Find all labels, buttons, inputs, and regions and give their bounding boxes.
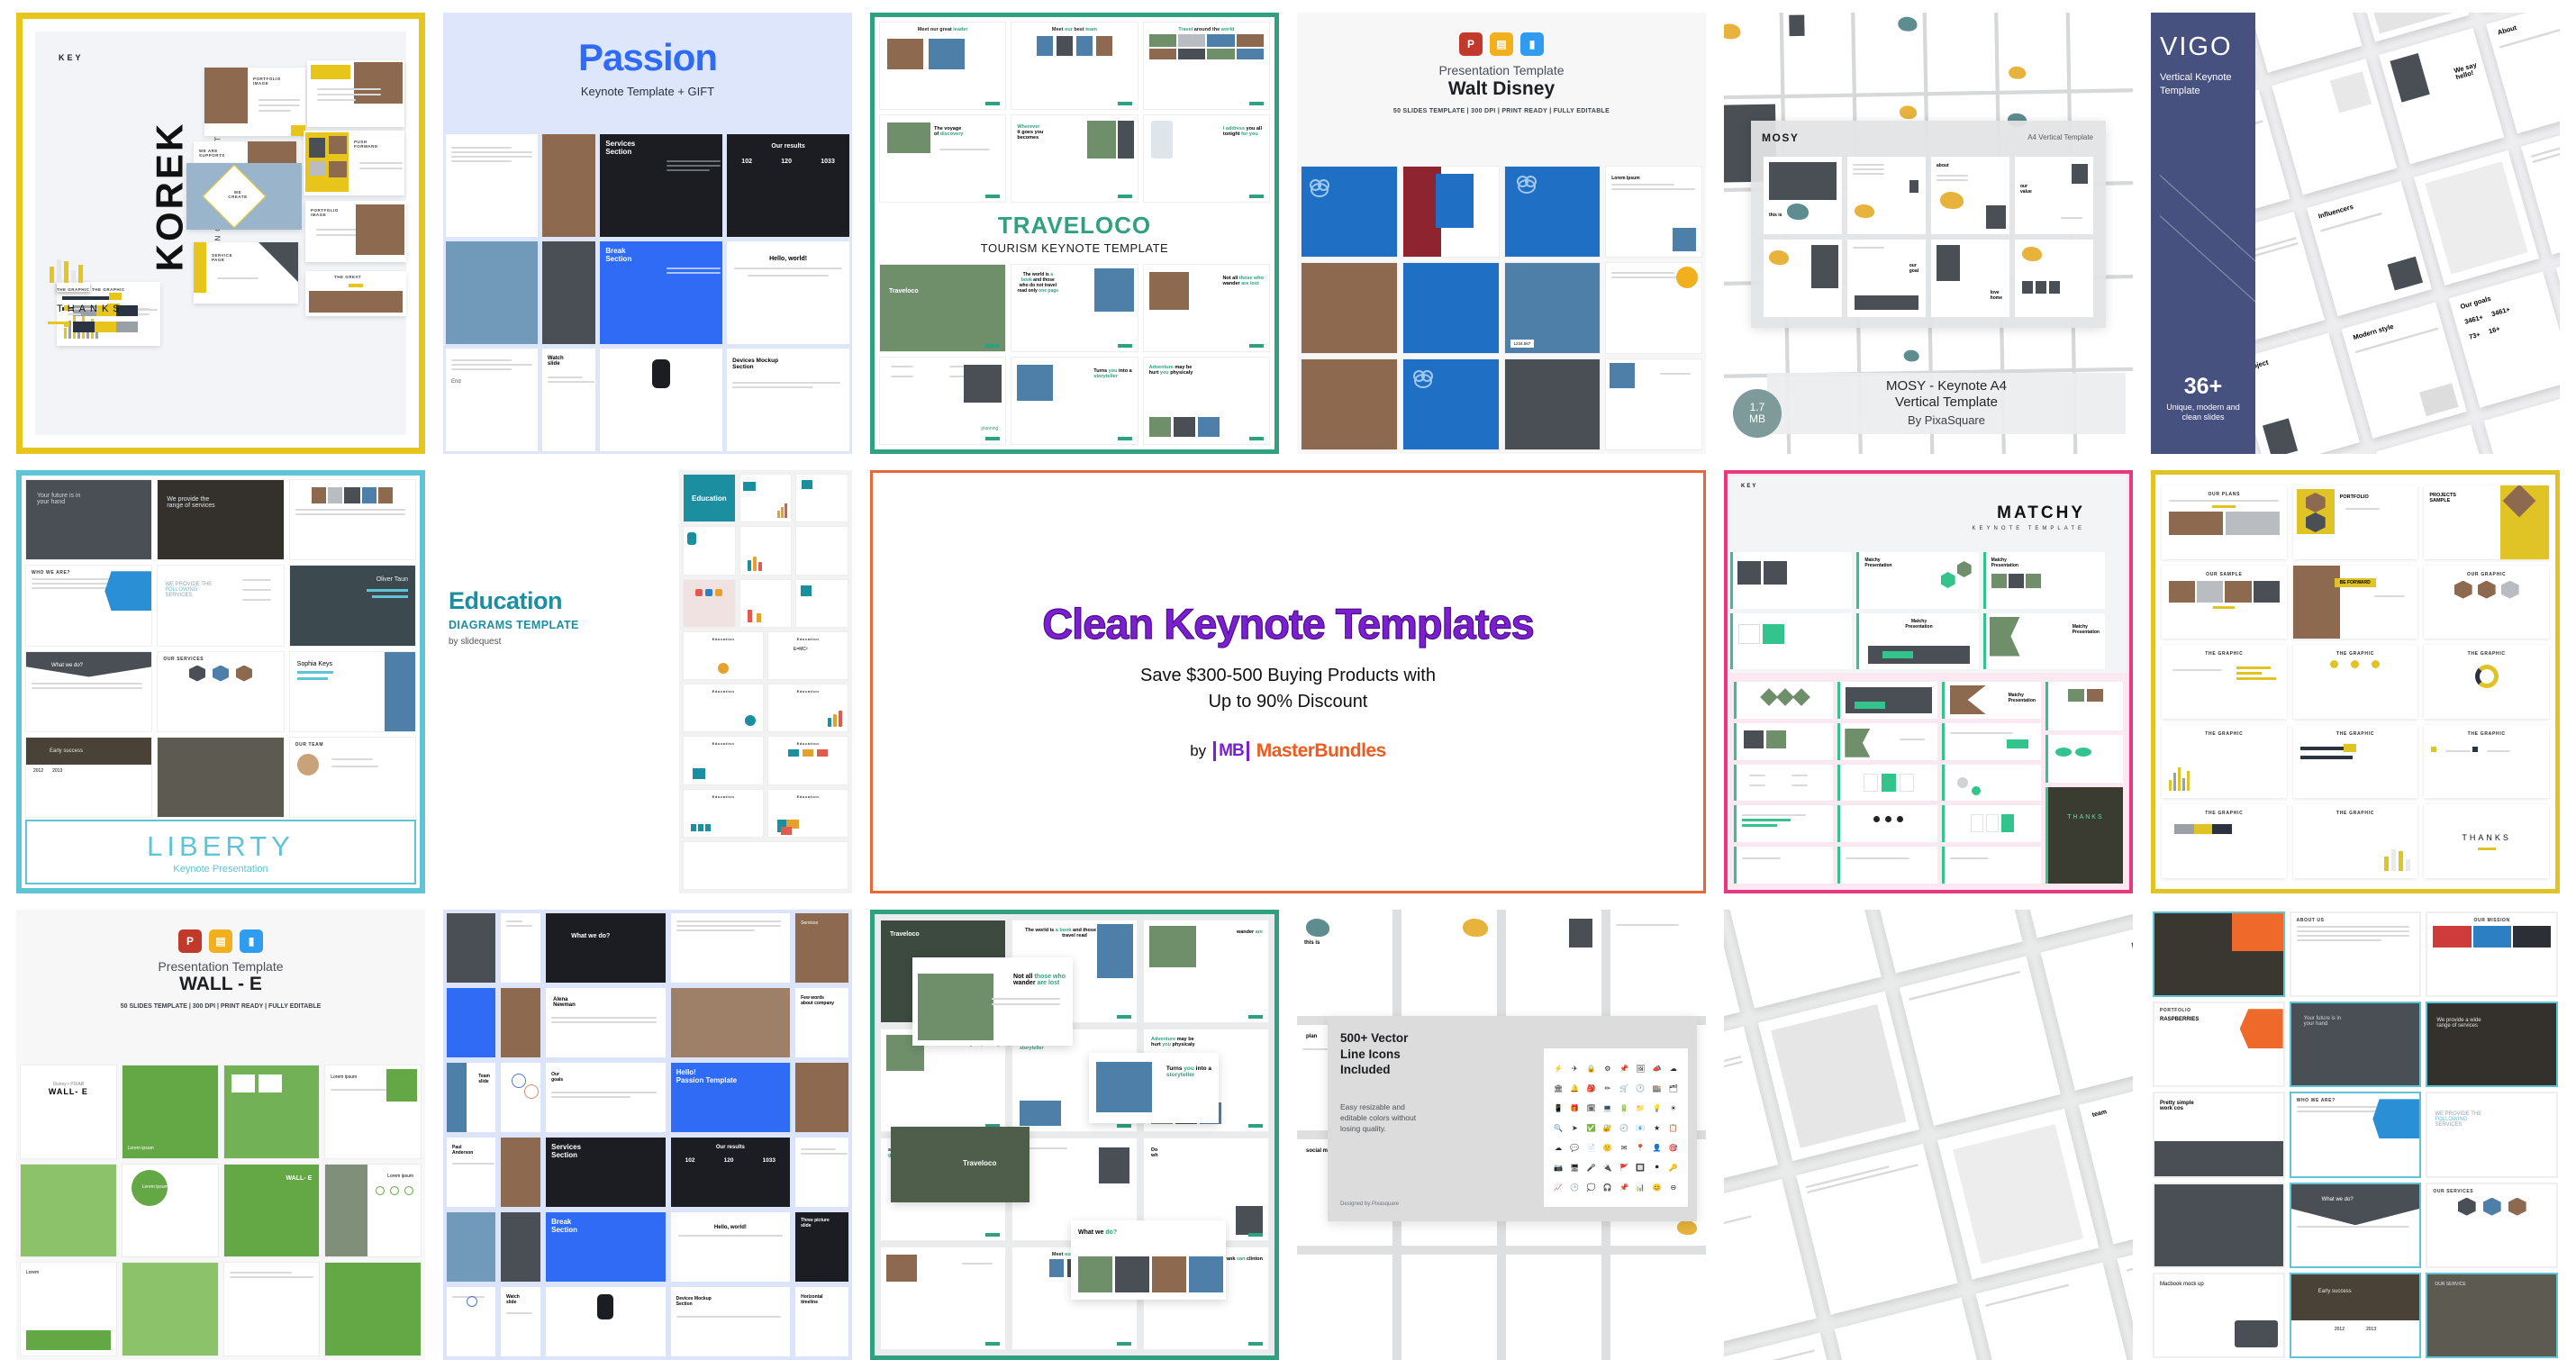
slide-thumb: Hello, world! — [727, 241, 849, 344]
slide-thumb: Education — [767, 789, 848, 838]
icon-sheet: ⚡✈🔒⚙📌🖼📣☁🏛🔔🎒✏🛒🕐🏬🗂📱🎁🗓💻🔋📁💡☀🔍➤✅🔐🕘📧★📋☁💬📄🙂✉📍👤🎯… — [1544, 1048, 1688, 1207]
traveloco-slides: Meet our great leader Meet our best team… — [875, 17, 1274, 449]
slide-thumb — [289, 479, 416, 560]
slide-thumb: Early success20122013 — [2290, 1273, 2422, 1358]
vigo-title: VIGO — [2160, 32, 2246, 62]
slide-thumb — [1301, 358, 1398, 450]
icons-body-line2: editable colors without — [1340, 1113, 1416, 1122]
line-icon-2: 🔒 — [1584, 1059, 1599, 1077]
line-icon-25: ➤ — [1567, 1119, 1582, 1137]
slide-thumb: Meet our great leader — [879, 22, 1006, 110]
slide-thumb — [2045, 682, 2123, 730]
tile-mosy[interactable]: MOSY A4 Vertical Template this is about … — [1724, 13, 2133, 454]
mosy-page-grid: this is about ourvalue ourgoal lovehome — [1764, 157, 2093, 317]
mosy-badge-unit: MB — [1749, 413, 1765, 425]
line-icon-23: ☀ — [1666, 1099, 1681, 1117]
icons-title-line2: Line Icons — [1340, 1047, 1401, 1061]
tile-traveloco[interactable]: Meet our great leader Meet our best team… — [870, 13, 1279, 454]
slide-thumb: We provide a widerange of services — [2426, 1002, 2558, 1087]
slide-thumb — [223, 1065, 321, 1159]
tile-walt-disney[interactable]: P ▤ ▮ Presentation Template Walt Disney … — [1297, 13, 1706, 454]
line-icon-26: ✅ — [1584, 1119, 1599, 1137]
slide-thumb: Lorem ipsum — [122, 1164, 219, 1258]
line-icon-16: 📱 — [1551, 1099, 1565, 1117]
slide-thumb — [1402, 262, 1500, 354]
slide-thumb: The voyageof discovery — [879, 114, 1006, 203]
slide-thumb: Create your planning — [879, 357, 1006, 445]
slide-thumb: Your future is inyour hand — [25, 479, 152, 560]
line-icon-37: 📍 — [1633, 1138, 1647, 1156]
icons-overlay-card: 500+ Vector Line Icons Included Easy res… — [1328, 1016, 1697, 1221]
slide-thumb: Traveloco — [879, 264, 1006, 352]
slide-thumb: We provide therange of services — [157, 479, 284, 560]
slide-thumb: Lorem Ipsum — [1605, 166, 1702, 258]
tile-passion-grid[interactable]: What we do? Services AlenaNewman Few wor… — [443, 910, 852, 1360]
slide-thumb: Hello, world! — [671, 1212, 790, 1282]
masterbundles-wordmark: MasterBundles — [1256, 740, 1386, 762]
slide-thumb — [501, 988, 540, 1057]
slide-thumb — [1605, 358, 1702, 450]
line-icon-44: 🚩 — [1617, 1158, 1631, 1176]
slide-thumb: MatchyPresentation — [1983, 613, 2105, 670]
slide-thumb: OUR SERVICES — [2426, 1183, 2558, 1268]
line-icon-18: 🗓 — [1584, 1099, 1599, 1117]
disney-slides: Lorem Ipsum 1234.567 — [1297, 166, 1706, 454]
slide-thumb: Lorem — [20, 1262, 117, 1356]
slide-thumb — [122, 1262, 219, 1356]
slide-thumb — [1402, 166, 1500, 258]
slide-thumb — [1734, 765, 1833, 802]
powerpoint-icon: P — [178, 929, 202, 953]
slide-thumb: Turns you into astoryteller — [1011, 357, 1138, 445]
slide-thumb: THE GRAPHIC — [2162, 645, 2287, 719]
slide-thumb: Services — [795, 913, 848, 983]
line-icon-0: ⚡ — [1551, 1059, 1565, 1077]
slide-thumb: ServicesSection — [600, 134, 722, 237]
slide-thumb: Macbook mock up — [2153, 1273, 2285, 1358]
slide-thumb: BreakSection — [600, 241, 722, 344]
line-icon-49: 🕑 — [1567, 1178, 1582, 1196]
slide-thumb — [501, 913, 540, 983]
education-title-block: Education DIAGRAMS TEMPLATE by slideques… — [449, 587, 606, 647]
line-icon-33: 💬 — [1567, 1138, 1582, 1156]
icons-title-line1: 500+ Vector — [1340, 1031, 1408, 1045]
line-icon-10: 🎒 — [1584, 1079, 1599, 1097]
liberty-title-block: LIBERTY Keynote Presentation — [25, 820, 416, 884]
tile-teal-grid[interactable]: ABOUT US OUR MISSION PORTFOLIORASPBERRIE… — [2151, 910, 2560, 1360]
passion-title: Passion — [443, 13, 852, 79]
slide-thumb — [1942, 765, 2041, 802]
slide-thumb — [1942, 805, 2041, 842]
teal-grid-slides: ABOUT US OUR MISSION PORTFOLIORASPBERRIE… — [2153, 911, 2558, 1358]
slide-thumb — [447, 1287, 495, 1356]
slide-thumb — [501, 1063, 540, 1132]
hero-promo-card[interactable]: Clean Keynote Templates Save $300-500 Bu… — [870, 470, 1706, 893]
line-icon-54: 😊 — [1650, 1178, 1664, 1196]
mosy-title-block: MOSY - Keynote A4Vertical Template By Pi… — [1767, 373, 2126, 435]
slide-thumb: PROJECTSSAMPLE — [2424, 485, 2549, 559]
slide-thumb: Our results1021201033 — [671, 1138, 790, 1207]
slide-thumb — [1301, 166, 1398, 258]
slide-thumb: Few wordsabout company — [795, 988, 848, 1057]
line-icon-40: 📷 — [1551, 1158, 1565, 1176]
slide-thumb: Disney • PIXARWALL- E — [20, 1065, 117, 1159]
slide-thumb — [739, 526, 793, 575]
line-icon-51: 🎧 — [1601, 1178, 1615, 1196]
slide-thumb: OUR SERVICE — [2426, 1273, 2558, 1358]
slide-thumb: The world is a book and those who do not… — [1011, 264, 1138, 352]
slide-thumb: Not all those whowander are lost — [1143, 264, 1270, 352]
slide-thumb: What we do? — [2290, 1183, 2422, 1268]
slide-thumb — [671, 988, 790, 1057]
slide-thumb — [1734, 847, 1833, 884]
line-icon-9: 🔔 — [1567, 1079, 1582, 1097]
passion-subtitle: Keynote Template + GIFT — [443, 85, 852, 98]
liberty-slides: Your future is inyour hand We provide th… — [25, 479, 416, 818]
slide-thumb — [1942, 723, 2041, 760]
slide-thumb — [1402, 358, 1500, 450]
keynote-icon: ▮ — [1520, 32, 1544, 56]
promo-subtitle: Save $300-500 Buying Products with Up to… — [1140, 663, 1436, 715]
education-byline: by slidequest — [449, 637, 606, 647]
floating-slide-card: Not all those whowander are lost — [912, 957, 1073, 1046]
slide-thumb: Education — [767, 684, 848, 732]
mosy-overlay-card: MOSY A4 Vertical Template this is about … — [1751, 121, 2106, 328]
icons-body-line1: Easy resizable and — [1340, 1102, 1405, 1111]
line-icon-13: 🕐 — [1633, 1079, 1647, 1097]
line-icon-48: 📈 — [1551, 1178, 1565, 1196]
tile-korek[interactable]: KEY KOREK KEYNOTE TEMPLATE PORTFOLIOIMAG… — [16, 13, 425, 454]
slide-thumb — [795, 526, 848, 575]
slide-thumb: OUR SAMPLE — [2162, 566, 2287, 639]
yellow-deck-slides: OUR PLANS PORTFOLIO PROJECTSSAMPLE OUR S… — [2162, 485, 2549, 878]
slide-thumb: Sophia Keys — [289, 651, 416, 732]
slide-thumb — [1730, 613, 1852, 670]
slide-thumb: Lorem ipsum — [324, 1164, 422, 1258]
slide-thumb: Lorem ipsum — [324, 1065, 422, 1159]
line-icon-28: 🕘 — [1617, 1119, 1631, 1137]
disney-title: Walt Disney — [1297, 78, 1706, 100]
slide-thumb — [2153, 911, 2285, 997]
slide-thumb: Oliver Taun — [289, 565, 416, 646]
slide-thumb — [739, 579, 793, 628]
slide-thumb — [1837, 805, 1937, 842]
disney-eyebrow: Presentation Template — [1297, 63, 1706, 77]
line-icon-53: 📊 — [1633, 1178, 1647, 1196]
line-icon-11: ✏ — [1601, 1079, 1615, 1097]
vigo-caption-line1: Unique, modern and — [2166, 403, 2240, 412]
slide-thumb — [683, 526, 736, 575]
line-icon-8: 🏛 — [1551, 1079, 1565, 1097]
line-icon-20: 🔋 — [1617, 1099, 1631, 1117]
vigo-count: 36+ — [2151, 374, 2255, 400]
slide-thumb: Education — [767, 736, 848, 784]
line-icon-4: 📌 — [1617, 1059, 1631, 1077]
walle-title: WALL - E — [16, 974, 425, 995]
line-icon-42: 🎤 — [1584, 1158, 1599, 1176]
slide-thumb: Meet our best team — [1011, 22, 1138, 110]
slide-thumb-chart2: THE GRAPHIC — [57, 282, 90, 292]
slide-thumb: THE GRAPHIC — [2293, 645, 2418, 719]
slide-thumb: OUR SERVICES — [157, 651, 284, 732]
slide-thumb: Education — [683, 474, 736, 522]
app-icon-row: P ▤ ▮ — [16, 910, 425, 953]
liberty-title: LIBERTY — [147, 830, 295, 863]
line-icon-30: ★ — [1650, 1119, 1664, 1137]
walle-specs: 50 SLIDES TEMPLATE | 300 DPI | PRINT REA… — [16, 1003, 425, 1010]
vigo-subtitle-line1: Vertical Keynote — [2160, 72, 2232, 83]
slide-thumb — [542, 134, 595, 237]
slide-thumb: End — [446, 349, 538, 451]
masterbundles-mark-icon: MB — [1213, 741, 1249, 761]
matchy-bottom-slides: MatchyPresentation THANKS — [1730, 678, 2127, 887]
slide-thumb: Early success20122013 — [25, 737, 152, 818]
line-icon-31: 📋 — [1666, 1119, 1681, 1137]
by-label: by — [1190, 742, 1206, 760]
slide-thumb — [1734, 723, 1833, 760]
slide-thumb: WE PROVIDE THEFOLLOWINGSERVICES — [157, 565, 284, 646]
slide-thumb: What we do? — [25, 651, 152, 732]
slide-thumb — [447, 988, 495, 1057]
mosy-kicker: A4 Vertical Template — [2027, 133, 2093, 141]
slide-thumb: MatchyPresentation — [1942, 682, 2041, 719]
vigo-count-block: 36+ Unique, modern and clean slides — [2151, 374, 2255, 423]
slide-thumb — [1734, 805, 1833, 842]
slide-thumb-we-create: WECREATE — [186, 163, 302, 230]
slide-thumb: PUSHFORWARD — [304, 131, 404, 195]
slide-thumb: Travel around the world — [1143, 22, 1270, 110]
line-icon-55: ⊖ — [1666, 1178, 1681, 1196]
slide-thumb: PORTFOLIORASPBERRIES — [2153, 1002, 2285, 1087]
slide-thumb: Teamslide — [447, 1063, 495, 1132]
slide-thumb — [542, 241, 595, 344]
slide-thumb — [795, 1138, 848, 1207]
education-subtitle: DIAGRAMS TEMPLATE — [449, 619, 606, 631]
matchy-header-panel: KEY MATCHY KEYNOTE TEMPLATE MatchyPresen… — [1730, 476, 2127, 673]
tile-vigo[interactable]: Trending We sayhello! About Success Infl… — [2151, 13, 2560, 454]
slide-thumb — [20, 1164, 117, 1258]
slide-thumb — [795, 474, 848, 522]
tile-passion[interactable]: Passion Keynote Template + GIFT Services… — [443, 13, 852, 454]
slide-thumb: Horizontaltimeline — [795, 1287, 848, 1356]
slide-thumb: Our results1021201033 — [727, 134, 849, 237]
line-icon-47: 🔑 — [1666, 1158, 1681, 1176]
slide-thumb: THE GRAPHIC — [2293, 725, 2418, 799]
slide-thumb — [1942, 847, 2041, 884]
slide-thumb: MatchyPresentation — [1856, 552, 1978, 609]
slide-thumb: Devices MockupSection — [671, 1287, 790, 1356]
slide-thumb: PORTFOLIOIMAGE — [305, 201, 406, 262]
slide-thumb: wander are — [1143, 920, 1269, 1023]
icons-title-line3: Included — [1340, 1063, 1391, 1076]
line-icon-34: 📄 — [1584, 1138, 1599, 1156]
google-slides-icon: ▤ — [209, 929, 232, 953]
vigo-subtitle: Vertical Keynote Template — [2160, 71, 2246, 98]
line-icon-12: 🛒 — [1617, 1079, 1631, 1097]
slide-thumb: Ourgoals — [546, 1063, 666, 1132]
passion-slides: ServicesSection Our results1021201033 Br… — [443, 131, 852, 454]
korek-graphic-row: THE GRAPHIC — [57, 282, 385, 419]
slide-thumb: PaulAnderson — [447, 1138, 495, 1207]
line-icon-32: ☁ — [1551, 1138, 1565, 1156]
mosy-author: By PixaSquare — [1771, 413, 2122, 427]
slide-thumb — [1301, 262, 1398, 354]
slide-thumb — [546, 1287, 666, 1356]
slide-thumb: THE GRAPHIC — [2293, 804, 2418, 878]
slide-thumb: OUR PLANS — [2162, 485, 2287, 559]
slide-thumb: PORTFOLIOIMAGE — [204, 68, 305, 136]
line-icon-21: 📁 — [1633, 1099, 1647, 1117]
line-icon-27: 🔐 — [1601, 1119, 1615, 1137]
line-icon-17: 🎁 — [1567, 1099, 1582, 1117]
floating-slide-card: What we do? — [1071, 1220, 1226, 1300]
slide-thumb — [446, 134, 538, 237]
slide-thumb: MatchyPresentation — [1856, 613, 1978, 670]
slide-thumb: Watchslide — [501, 1287, 540, 1356]
slide-thumb: Adventure may behurt you physicaly — [1143, 357, 1270, 445]
powerpoint-icon: P — [1459, 32, 1483, 56]
slide-thumb — [683, 841, 848, 890]
line-icon-36: ✉ — [1617, 1138, 1631, 1156]
traveloco-title-block: TRAVELOCO TOURISM KEYNOTE TEMPLATE — [879, 207, 1270, 259]
slide-thumb: What we do? — [546, 913, 666, 983]
slide-thumb: THE GRAPHIC — [2162, 725, 2287, 799]
slide-thumb — [1837, 682, 1937, 719]
tile-bw-sheets[interactable]: App services About projects team — [1724, 910, 2133, 1360]
slide-thumb: AlenaNewman — [546, 988, 666, 1057]
slide-thumb — [2153, 1183, 2285, 1268]
line-icon-5: 🖼 — [1633, 1059, 1647, 1077]
slide-thumb: OUR TEAM — [289, 737, 416, 818]
slide-thumb: Your future is inyour hand — [2290, 1002, 2422, 1087]
slide-thumb — [501, 1212, 540, 1282]
bw-slide-stack: App services About projects team — [1724, 910, 2133, 1360]
line-icon-43: 🔌 — [1601, 1158, 1615, 1176]
tile-yellow-deck[interactable]: OUR PLANS PORTFOLIO PROJECTSSAMPLE OUR S… — [2151, 470, 2560, 893]
line-icon-50: 💭 — [1584, 1178, 1599, 1196]
slide-thumb: Education — [683, 631, 764, 680]
app-icon-row: P ▤ ▮ — [1297, 13, 1706, 56]
icons-body-line3: losing quality. — [1340, 1124, 1386, 1133]
slide-thumb — [671, 913, 790, 983]
tile-wall-e[interactable]: P ▤ ▮ Presentation Template WALL - E 50 … — [16, 910, 425, 1360]
slide-thumb — [1605, 262, 1702, 354]
slide-thumb — [1504, 166, 1601, 258]
slide-thumb: EducationE=MC² — [767, 631, 848, 680]
korek-canvas: KEY KOREK KEYNOTE TEMPLATE PORTFOLIOIMAG… — [35, 32, 406, 435]
education-slides: Education Education EducationE=MC² Educa… — [679, 470, 852, 893]
slide-thumb: Hello!Passion Template — [671, 1063, 790, 1132]
traveloco-subtitle: TOURISM KEYNOTE TEMPLATE — [981, 241, 1168, 255]
slide-thumb — [307, 60, 404, 127]
slide-thumb — [1837, 847, 1937, 884]
slide-thumb: Education — [683, 684, 764, 732]
promo-title: Clean Keynote Templates — [1042, 602, 1534, 646]
slide-thumb: 1234.567 — [1504, 262, 1601, 354]
slide-thumb — [447, 913, 495, 983]
slide-thumb: OUR MISSION — [2426, 911, 2558, 997]
slide-thumb — [157, 737, 284, 818]
slide-thumb — [1730, 552, 1852, 609]
slide-thumb: Education — [683, 736, 764, 784]
icons-credit: Designed by Pixasquare — [1340, 1201, 1399, 1207]
slide-thumb — [1504, 358, 1601, 450]
slide-thumb — [223, 1262, 321, 1356]
slide-thumb: I address you alltonight for you — [1143, 114, 1270, 203]
line-icon-24: 🔍 — [1551, 1119, 1565, 1137]
walle-eyebrow: Presentation Template — [16, 959, 425, 974]
slide-thumb: BreakSection — [546, 1212, 666, 1282]
slide-thumb: ServicesSection — [546, 1138, 666, 1207]
line-icon-3: ⚙ — [1601, 1059, 1615, 1077]
slide-thumb — [795, 1063, 848, 1132]
tile-liberty[interactable]: Your future is inyour hand We provide th… — [16, 470, 425, 893]
template-collage-grid: KEY KOREK KEYNOTE TEMPLATE PORTFOLIOIMAG… — [0, 0, 2576, 1351]
passion-grid-slides: What we do? Services AlenaNewman Few wor… — [443, 910, 852, 1360]
slide-thumb: BE FORWARD — [2293, 566, 2418, 639]
mosy-title-line1: MOSY - Keynote A4 — [1886, 378, 2007, 394]
tile-traveloco-grid[interactable]: Traveloco The world is a book and those … — [870, 910, 1279, 1360]
mosy-title-line2: Vertical Template — [1895, 394, 1998, 410]
matchy-logo: MATCHY KEYNOTE TEMPLATE — [1973, 503, 2085, 531]
line-icon-39: 🎯 — [1666, 1138, 1681, 1156]
line-icon-14: 🏬 — [1650, 1079, 1664, 1097]
line-icon-52: 📌 — [1617, 1178, 1631, 1196]
brand-attribution: by MB MasterBundles — [1190, 740, 1386, 762]
slide-thumb: THE GRAPHIC — [2162, 804, 2287, 878]
line-icon-29: 📧 — [1633, 1119, 1647, 1137]
slide-thumb — [1837, 765, 1937, 802]
vigo-caption-line2: clean slides — [2181, 413, 2224, 422]
slide-thumb: OUR GRAPHIC — [2424, 566, 2549, 639]
line-icon-46: ⏺ — [1650, 1158, 1664, 1176]
slide-thumb: WALL- E — [223, 1164, 321, 1258]
slide-thumb: THE GRAPHIC — [2424, 645, 2549, 719]
slide-thumb — [880, 1247, 1006, 1350]
matchy-subtitle: KEYNOTE TEMPLATE — [1973, 526, 2085, 531]
tile-vector-icons[interactable]: this is plan our pricing contact social … — [1297, 910, 1706, 1360]
traveloco-title: TRAVELOCO — [998, 212, 1151, 240]
slide-thumb: Three pictureslide — [795, 1212, 848, 1282]
walle-slides: Disney • PIXARWALL- E Lorem ipsum Lorem … — [16, 1065, 425, 1360]
slide-thumb: Pretty simplework cos — [2153, 1092, 2285, 1177]
line-icon-7: ☁ — [1666, 1059, 1681, 1077]
keynote-icon: ▮ — [240, 929, 263, 953]
slide-thumb: Education — [683, 789, 764, 838]
slide-thumb: WE PROVIDE THEFOLLOWINGSERVICES — [2426, 1092, 2558, 1177]
slide-thumb: WHO WE ARE? — [25, 565, 152, 646]
slide-thumb: Devices MockupSection — [727, 349, 849, 451]
slide-thumb — [1837, 723, 1937, 760]
slide-thumb-thanks: THANKS — [2424, 804, 2549, 878]
line-icon-19: 💻 — [1601, 1099, 1615, 1117]
tile-education[interactable]: Education DIAGRAMS TEMPLATE by slideques… — [443, 470, 852, 893]
slide-thumb — [1734, 682, 1833, 719]
line-icon-35: 🙂 — [1601, 1138, 1615, 1156]
slide-thumb: Whereverit goes youbecomes — [1011, 114, 1138, 203]
line-icon-6: 📣 — [1650, 1059, 1664, 1077]
line-icon-41: 🖥 — [1567, 1158, 1582, 1176]
mosy-filesize-badge: 1.7 MB — [1733, 389, 1782, 438]
line-icon-38: 👤 — [1650, 1138, 1664, 1156]
slide-thumb: WHO WE ARE? — [2290, 1092, 2422, 1177]
floating-slide-card: Turns you into astoryteller — [1089, 1053, 1219, 1123]
line-icon-15: 🗂 — [1666, 1079, 1681, 1097]
slide-thumb — [447, 1212, 495, 1282]
tile-matchy[interactable]: KEY MATCHY KEYNOTE TEMPLATE MatchyPresen… — [1724, 470, 2133, 893]
education-title: Education — [449, 587, 606, 615]
slide-thumb — [739, 474, 793, 522]
